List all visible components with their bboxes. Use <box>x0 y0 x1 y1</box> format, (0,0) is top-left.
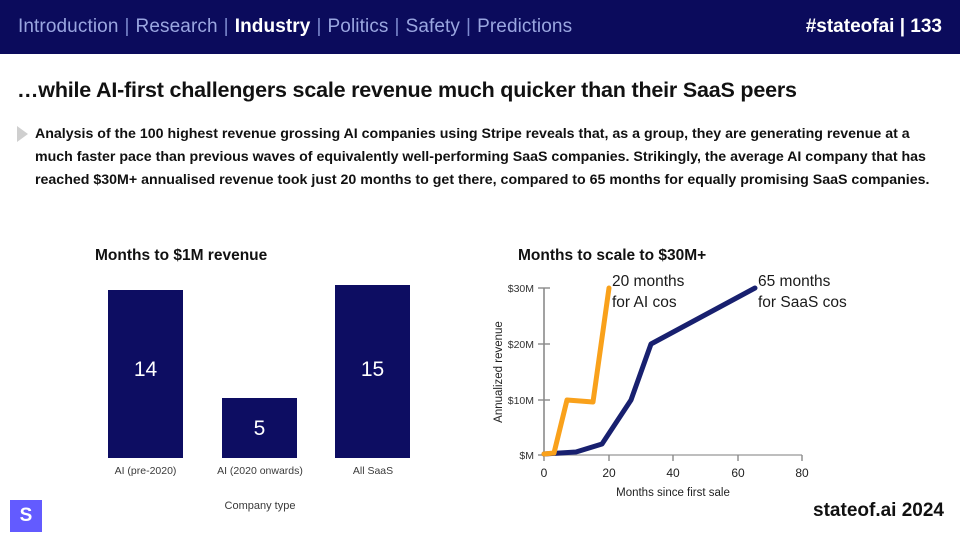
x-tick-label-40: 40 <box>666 466 680 480</box>
annotation-ai-line1: 20 months <box>612 272 684 293</box>
nav-separator: | <box>395 16 400 38</box>
line-series-ai-cos <box>544 288 609 454</box>
x-axis-title: Months since first sale <box>616 487 730 499</box>
hashtag-and-page-number: #stateofai | 133 <box>806 16 942 38</box>
y-tick-label-0: $M <box>519 450 534 462</box>
annotation-ai-line2: for AI cos <box>612 293 684 314</box>
bar-value-ai-2020-onwards: 5 <box>222 417 297 441</box>
bar-value-ai-pre-2020: 14 <box>108 358 183 382</box>
annotation-saas-line1: 65 months <box>758 272 847 293</box>
top-navigation-bar: Introduction | Research | Industry | Pol… <box>0 0 960 54</box>
annotation-saas-line2: for SaaS cos <box>758 293 847 314</box>
bar-chart-x-axis-label: Company type <box>60 500 460 512</box>
body-block: Analysis of the 100 highest revenue gros… <box>17 123 942 192</box>
bar-category-all-saas: All SaaS <box>328 465 418 477</box>
bar-chart-months-to-1m: Months to $1M revenue 14 AI (pre-2020) 5… <box>60 240 460 530</box>
line-chart-months-to-30m: Months to scale to $30M+ $30M $20M $10M … <box>470 240 960 505</box>
body-paragraph: Analysis of the 100 highest revenue gros… <box>35 123 935 192</box>
nav-separator: | <box>316 16 321 38</box>
x-tick-label-0: 0 <box>541 466 548 480</box>
nav-separator: | <box>125 16 130 38</box>
section-nav: Introduction | Research | Industry | Pol… <box>18 16 572 38</box>
nav-separator: | <box>224 16 229 38</box>
y-tick-label-20m: $20M <box>508 339 534 351</box>
bar-category-ai-2020-onwards: AI (2020 onwards) <box>195 465 325 477</box>
y-tick-label-10m: $10M <box>508 395 534 407</box>
stripe-logo-icon: S <box>10 500 42 532</box>
nav-item-industry[interactable]: Industry <box>235 16 311 38</box>
x-tick-label-60: 60 <box>731 466 745 480</box>
nav-separator: | <box>466 16 471 38</box>
x-tick-label-20: 20 <box>602 466 616 480</box>
nav-item-predictions[interactable]: Predictions <box>477 16 572 38</box>
nav-item-introduction[interactable]: Introduction <box>18 16 119 38</box>
y-axis-title: Annualized revenue <box>493 321 505 423</box>
nav-item-safety[interactable]: Safety <box>406 16 460 38</box>
y-tick-label-30m: $30M <box>508 283 534 295</box>
line-chart-svg: $30M $20M $10M $M 0 20 40 60 80 Months s… <box>470 240 960 505</box>
bar-chart-title: Months to $1M revenue <box>95 247 267 265</box>
annotation-ai-cos: 20 months for AI cos <box>612 272 684 314</box>
bar-value-all-saas: 15 <box>335 358 410 382</box>
line-chart-title: Months to scale to $30M+ <box>518 247 706 265</box>
nav-item-research[interactable]: Research <box>136 16 218 38</box>
x-tick-label-80: 80 <box>795 466 809 480</box>
nav-item-politics[interactable]: Politics <box>328 16 389 38</box>
slide-root: Introduction | Research | Industry | Pol… <box>0 0 960 540</box>
triangle-bullet-icon <box>17 126 28 142</box>
slide-title: …while AI-first challengers scale revenu… <box>17 78 927 103</box>
bar-category-ai-pre-2020: AI (pre-2020) <box>88 465 203 477</box>
annotation-saas-cos: 65 months for SaaS cos <box>758 272 847 314</box>
footer-brand-label: stateof.ai 2024 <box>813 500 944 522</box>
